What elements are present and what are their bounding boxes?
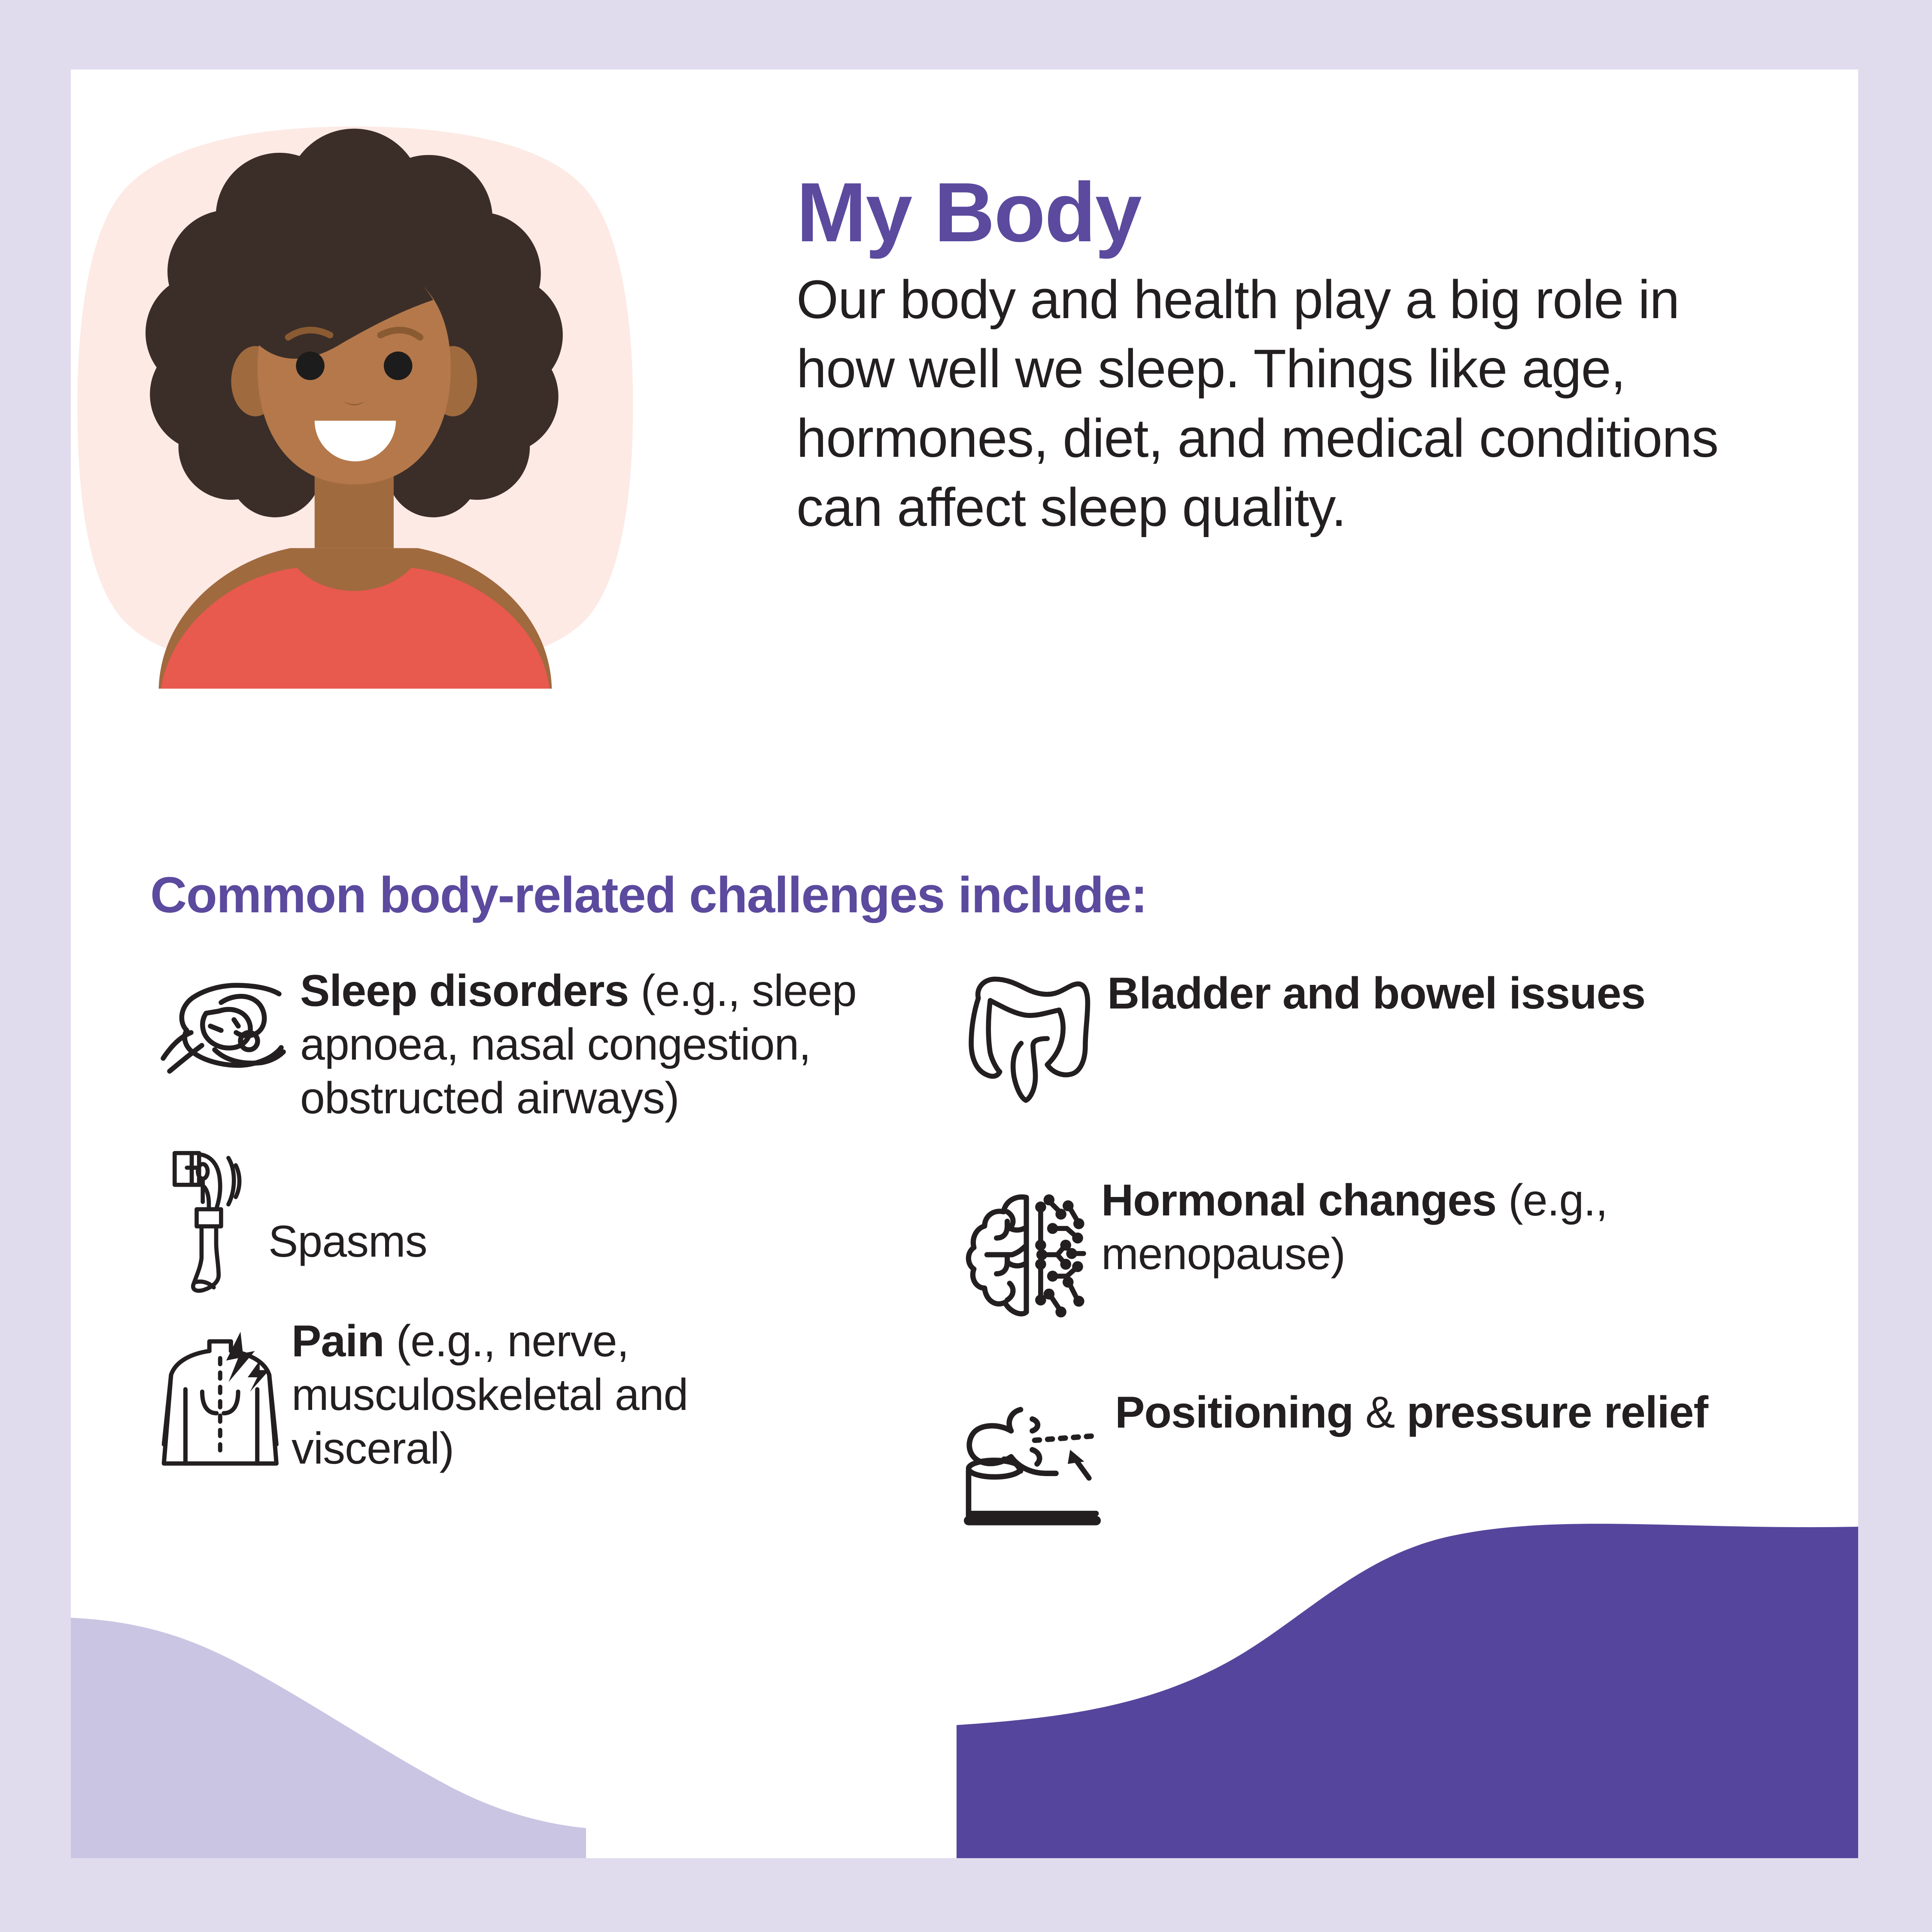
list-item-title: Spasms — [268, 1217, 427, 1267]
avatar-eye-left — [296, 352, 325, 380]
list-item-label: Spasms — [268, 1151, 427, 1269]
list-item: Pain (e.g., nerve, musculoskeletal and v… — [157, 1315, 972, 1475]
list-item-label: Sleep disorders (e.g., sleep apnoea, nas… — [300, 963, 953, 1125]
leg-brace-vibration-icon — [170, 1151, 255, 1292]
list-item: Spasms — [157, 1151, 972, 1292]
header-section: My Body Our body and health play a big r… — [71, 70, 1858, 799]
list-item-title-part-2: pressure relief — [1406, 1388, 1708, 1437]
intro-paragraph: Our body and health play a big role in h… — [796, 265, 1767, 542]
list-item: Hormonal changes (e.g., menopause) — [964, 1174, 1801, 1321]
avatar-eye-right — [384, 352, 413, 380]
person-on-mattress-pressure-icon — [964, 1403, 1106, 1532]
torso-lightning-pain-icon — [157, 1329, 281, 1471]
list-item-title: Bladder and bowel issues — [1107, 969, 1645, 1018]
section-heading: Common body-related challenges include: — [150, 866, 1147, 924]
woman-avatar-illustration — [71, 109, 642, 697]
list-item-label: Pain (e.g., nerve, musculoskeletal and v… — [292, 1315, 850, 1475]
avatar — [71, 109, 642, 697]
list-item-label: Positioning & pressure relief — [1115, 1386, 1716, 1440]
list-item-title: Sleep disorders — [300, 966, 629, 1016]
list-item: Positioning & pressure relief — [964, 1386, 1801, 1532]
list-item: Bladder and bowel issues — [964, 967, 1801, 1105]
decorative-lavender-wave — [71, 1618, 586, 1858]
challenges-left-column: Sleep disorders (e.g., sleep apnoea, nas… — [157, 963, 972, 1476]
decorative-purple-wave — [957, 1523, 1858, 1858]
list-item-title: Pain — [292, 1316, 384, 1366]
list-item-title: Hormonal changes — [1101, 1176, 1496, 1225]
list-item: Sleep disorders (e.g., sleep apnoea, nas… — [157, 963, 972, 1125]
list-item-title-connector: & — [1353, 1388, 1406, 1437]
sleeping-person-pillow-icon — [157, 970, 290, 1099]
list-item-label: Bladder and bowel issues — [1107, 967, 1717, 1021]
list-item-label: Hormonal changes (e.g., menopause) — [1101, 1174, 1771, 1281]
intestine-colon-icon — [964, 972, 1093, 1105]
page-title: My Body — [796, 170, 1141, 255]
brain-circuit-icon — [964, 1193, 1084, 1321]
challenges-right-column: Bladder and bowel issues — [964, 963, 1801, 1532]
infographic-card: My Body Our body and health play a big r… — [71, 70, 1858, 1858]
list-item-title-part-1: Positioning — [1115, 1388, 1353, 1437]
